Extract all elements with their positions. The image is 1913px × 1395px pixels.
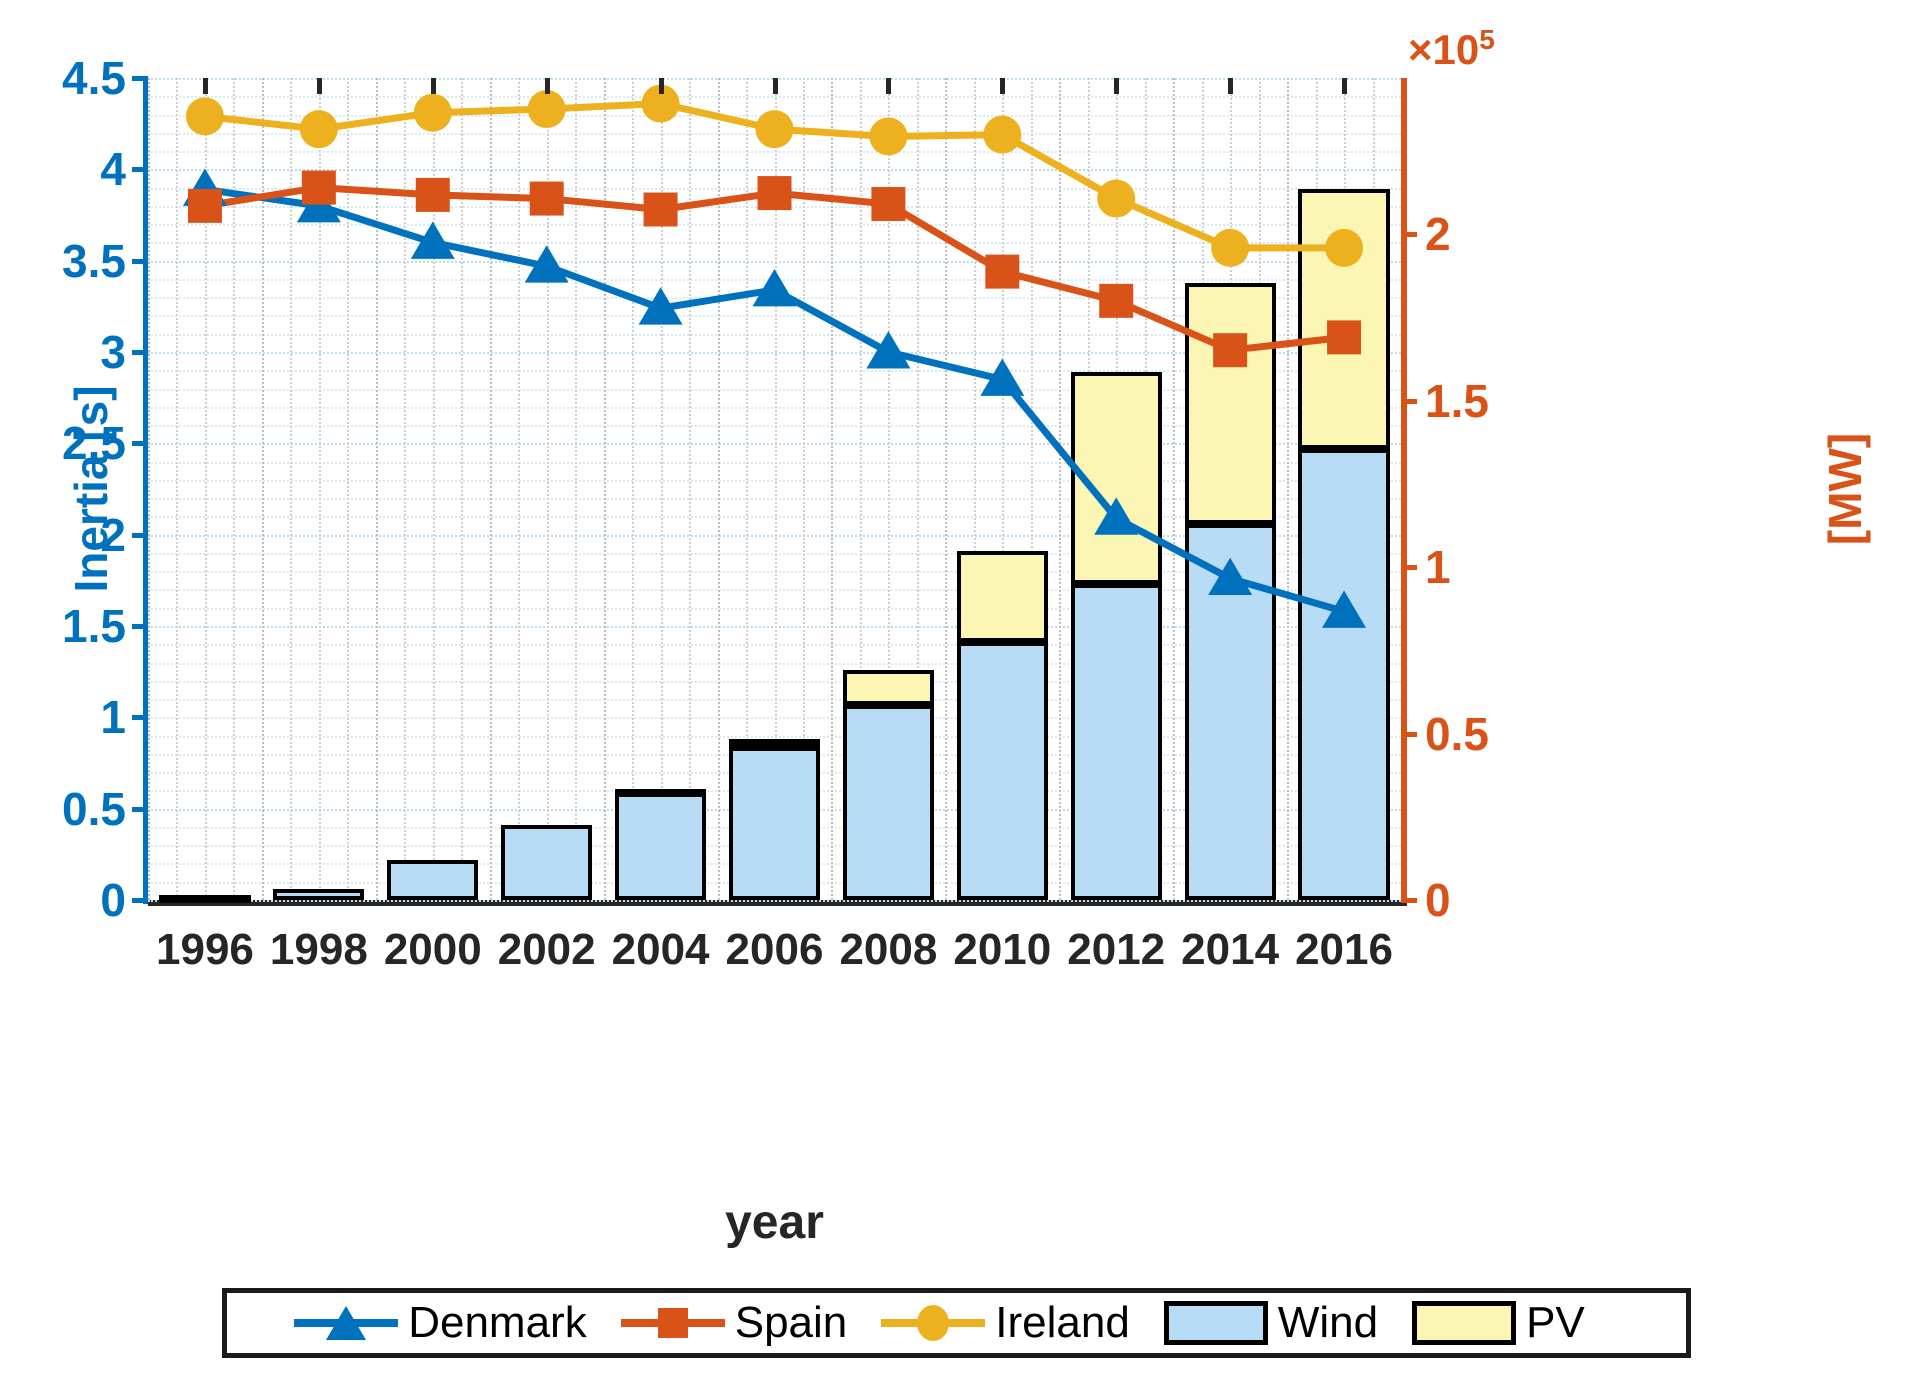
legend-label: PV [1526,1301,1585,1345]
marker-spain [871,187,905,221]
gridline-horizontal [148,900,1401,902]
marker-spain [1327,320,1361,354]
left-axis-tick-label: 2 [100,508,126,562]
left-axis-tick-label: 0 [100,873,126,927]
right-axis-tick-label: 1 [1425,540,1451,594]
chart-legend: DenmarkSpainIrelandWindPV [222,1288,1691,1358]
tick-left [132,624,148,629]
marker-ireland [300,110,338,148]
legend-line-sample [881,1319,985,1327]
legend-triangle-icon [326,1306,366,1340]
legend-item-pv[interactable]: PV [1412,1301,1619,1345]
legend-swatch-pv [1412,1301,1516,1345]
tick-right [1401,732,1417,737]
right-axis-exponent-prefix: ×10 [1408,26,1479,73]
left-axis-tick-label: 4.5 [62,51,126,105]
legend-item-denmark[interactable]: Denmark [294,1301,621,1345]
plot-area [148,78,1401,900]
legend-items: DenmarkSpainIrelandWindPV [227,1301,1686,1345]
left-axis-tick-label: 0.5 [62,782,126,836]
marker-ireland [528,90,566,128]
left-axis-tick-label: 1 [100,690,126,744]
legend-label: Ireland [995,1301,1130,1345]
chart-figure: ×105 Inertia [s] [MW] year 00.511.522.53… [0,0,1913,1395]
tick-left [132,441,148,446]
legend-item-ireland[interactable]: Ireland [881,1301,1164,1345]
tick-left [132,807,148,812]
marker-spain [416,178,450,212]
tick-top [1114,78,1119,94]
x-axis-tick-label: 2010 [953,925,1051,975]
marker-denmark [866,331,910,368]
x-axis-tick-label: 1996 [156,925,254,975]
left-axis-title: Inertia [s] [64,78,118,900]
line-series-layer [148,78,1401,900]
legend-circle-icon [917,1305,949,1341]
tick-right [1401,399,1417,404]
tick-left [132,350,148,355]
line-denmark [205,189,1344,611]
marker-spain [530,182,564,216]
marker-spain [188,189,222,223]
legend-square-icon [658,1308,688,1338]
marker-ireland [414,94,452,132]
line-spain [205,188,1344,351]
tick-top [1228,78,1233,94]
tick-top [1342,78,1347,94]
x-axis-tick-label: 2000 [384,925,482,975]
x-axis-tick-label: 2004 [612,925,710,975]
marker-spain [758,176,792,210]
marker-spain [1213,333,1247,367]
left-axis-tick-label: 4 [100,142,126,196]
marker-spain [1099,284,1133,318]
right-axis-tick-label: 0.5 [1425,707,1489,761]
legend-line-sample [294,1319,398,1327]
legend-swatch-wind [1164,1301,1268,1345]
tick-top [659,78,664,94]
tick-left [132,715,148,720]
legend-item-wind[interactable]: Wind [1164,1301,1412,1345]
tick-top [431,78,436,94]
tick-left [132,76,148,81]
marker-ireland [1097,180,1135,218]
right-axis-exponent-label: ×105 [1408,24,1495,74]
marker-ireland [1211,229,1249,267]
x-axis-tick-label: 2012 [1067,925,1165,975]
x-axis-tick-label: 2006 [726,925,824,975]
marker-ireland [983,116,1021,154]
marker-spain [644,193,678,227]
marker-ireland [186,97,224,135]
marker-ireland [869,117,907,155]
legend-label: Wind [1278,1301,1378,1345]
marker-denmark [753,269,797,306]
legend-line-sample [621,1319,725,1327]
right-axis-tick-label: 1.5 [1425,374,1489,428]
tick-top [773,78,778,94]
x-axis-tick-label: 2002 [498,925,596,975]
tick-right [1401,232,1417,237]
legend-label: Denmark [408,1301,587,1345]
left-axis-tick-label: 3 [100,325,126,379]
tick-left [132,898,148,903]
tick-left [132,259,148,264]
tick-top [317,78,322,94]
marker-ireland [1325,229,1363,267]
tick-top [886,78,891,94]
marker-spain [985,255,1019,289]
left-axis-tick-label: 2.5 [62,416,126,470]
right-axis-title: [MW] [1818,78,1872,900]
axis-right-rule [1401,78,1407,904]
x-axis-tick-label: 1998 [270,925,368,975]
tick-right [1401,898,1417,903]
marker-denmark [1208,558,1252,595]
legend-label: Spain [735,1301,848,1345]
x-axis-tick-label: 2008 [839,925,937,975]
x-axis-title: year [148,1195,1401,1250]
marker-ireland [756,110,794,148]
right-axis-tick-label: 2 [1425,207,1451,261]
tick-top [545,78,550,94]
left-axis-tick-label: 1.5 [62,599,126,653]
tick-left [132,167,148,172]
tick-top [203,78,208,94]
legend-item-spain[interactable]: Spain [621,1301,882,1345]
x-axis-tick-label: 2016 [1295,925,1393,975]
tick-left [132,533,148,538]
left-axis-tick-label: 3.5 [62,234,126,288]
tick-top [1000,78,1005,94]
tick-right [1401,565,1417,570]
right-axis-tick-label: 0 [1425,873,1451,927]
x-axis-tick-label: 2014 [1181,925,1279,975]
right-axis-exponent-power: 5 [1479,24,1495,55]
marker-spain [302,171,336,205]
